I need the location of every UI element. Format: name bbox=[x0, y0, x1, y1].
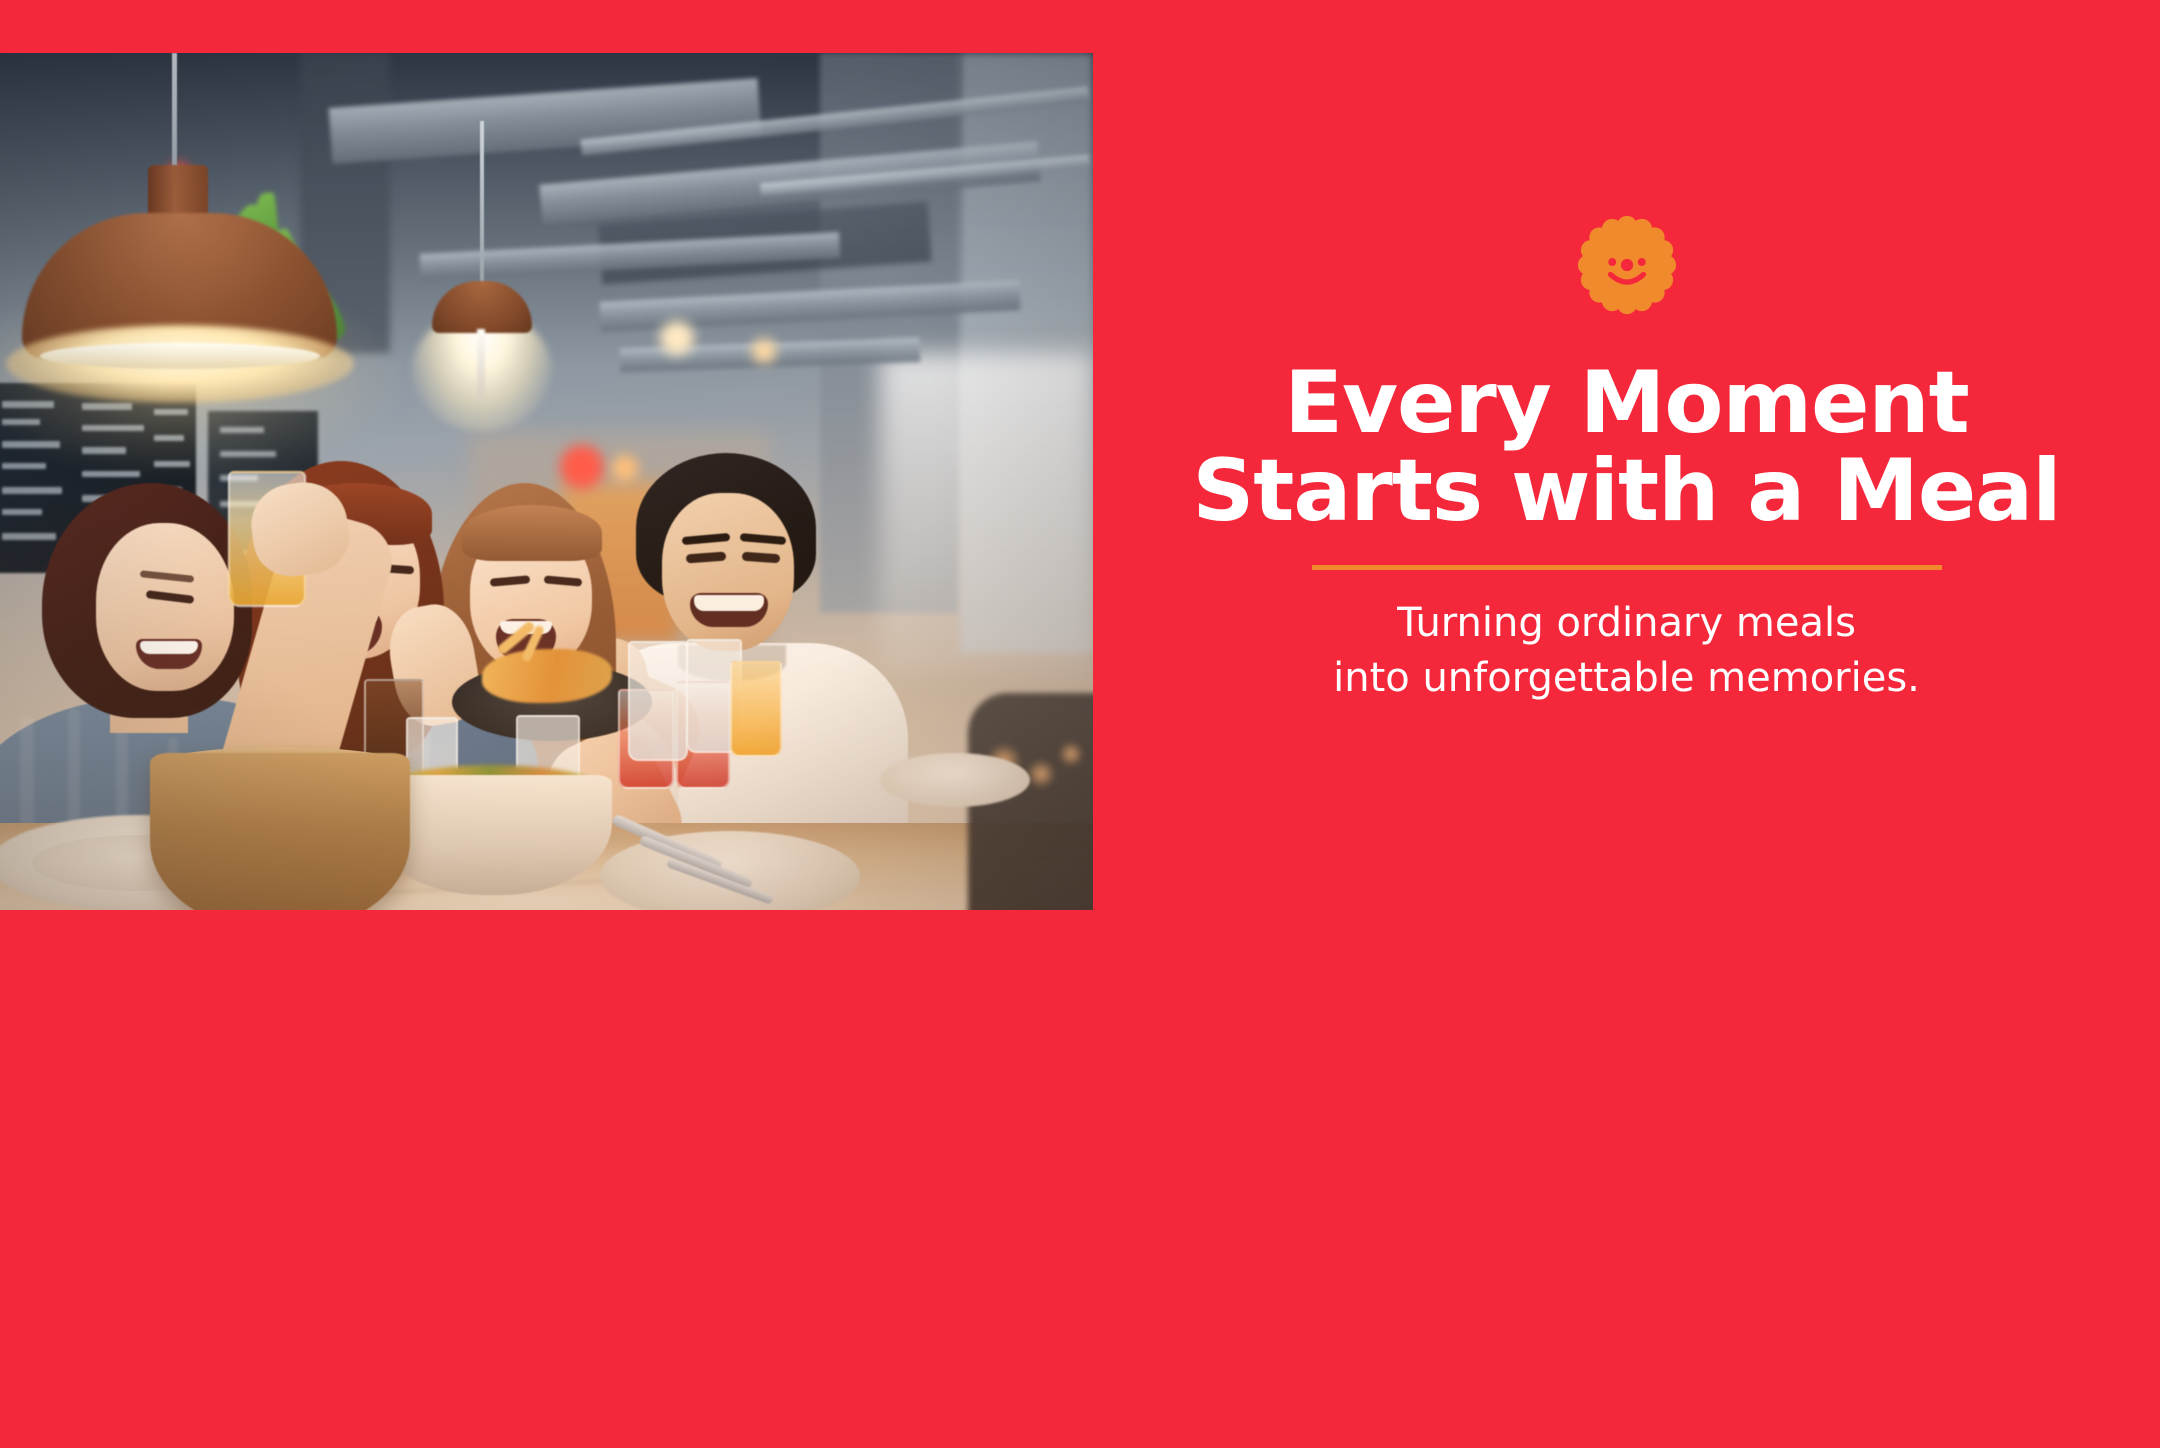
photo-black-plate bbox=[452, 663, 652, 741]
divider bbox=[1312, 565, 1942, 570]
photo-red-drink-glass bbox=[676, 681, 730, 789]
photo-table bbox=[0, 823, 1093, 910]
hero-banner: Every Moment Starts with a Meal Turning … bbox=[0, 0, 2160, 1448]
subtitle-line-2: into unforgettable memories. bbox=[1177, 651, 2077, 705]
photo-pasta bbox=[482, 649, 612, 703]
photo-ceiling-background bbox=[0, 53, 1093, 483]
photo-ceiling-beam bbox=[598, 202, 931, 285]
photo-bokeh-light bbox=[1026, 759, 1056, 789]
photo-pendant-lamp-shade bbox=[432, 281, 532, 333]
headline-line-2: Starts with a Meal bbox=[1127, 448, 2127, 536]
photo-pendant-lamp-bulb bbox=[477, 329, 485, 399]
photo-beer-glass bbox=[228, 471, 306, 607]
photo-bar-warm-light bbox=[560, 483, 680, 643]
photo-pendant-lamp-rim bbox=[40, 343, 320, 369]
photo-chalkboard-menu-secondary bbox=[208, 411, 318, 551]
photo-bokeh-light bbox=[1058, 741, 1084, 767]
badge-nose bbox=[1620, 259, 1632, 271]
badge-eye-left bbox=[1608, 258, 1616, 266]
photo-bokeh-light bbox=[660, 321, 694, 355]
photo-pasta-strand bbox=[496, 620, 536, 656]
photo-red-drink-glass bbox=[618, 689, 674, 789]
photo-ceiling-duct bbox=[620, 338, 921, 372]
photo-pendant-lamp-glow bbox=[412, 311, 552, 431]
photo-bokeh-light bbox=[752, 339, 776, 363]
photo-pillar-far-right bbox=[960, 53, 1093, 653]
photo-ceiling-duct bbox=[600, 280, 1021, 332]
photo-front-plate bbox=[600, 831, 860, 910]
photo-wooden-salad-bowl bbox=[150, 753, 410, 910]
photo-bar-counter bbox=[470, 433, 770, 653]
photo-ceiling-duct bbox=[329, 78, 762, 164]
headline-line-1: Every Moment bbox=[1127, 360, 2127, 448]
photo-pasta-strand bbox=[521, 624, 545, 662]
photo-plant bbox=[186, 193, 366, 393]
badge-eye-right bbox=[1637, 258, 1645, 266]
photo-pendant-lamp-cord bbox=[172, 53, 177, 173]
photo-spoon bbox=[666, 858, 774, 905]
photo-pendant-lamp-shade bbox=[22, 213, 337, 358]
photo-white-salad-bowl bbox=[372, 775, 612, 895]
smiley-scalloped-badge-icon bbox=[1568, 206, 1686, 324]
subtitle: Turning ordinary meals into unforgettabl… bbox=[1177, 596, 2077, 705]
photo-knife bbox=[611, 813, 723, 871]
photo-water-glass-front bbox=[516, 715, 580, 843]
photo-lower-background bbox=[0, 453, 1093, 910]
photo-bokeh-light bbox=[612, 455, 638, 481]
photo-vignette bbox=[0, 53, 1093, 910]
photo-orange-juice-glass bbox=[730, 661, 782, 757]
photo-ceiling-pipe bbox=[581, 86, 1090, 155]
hero-content: Every Moment Starts with a Meal Turning … bbox=[1093, 0, 2160, 910]
photo-cola-glass bbox=[364, 679, 424, 791]
photo-pillar-right bbox=[820, 53, 960, 613]
subtitle-line-1: Turning ordinary meals bbox=[1177, 596, 2077, 650]
photo-fork bbox=[638, 835, 753, 889]
photo-left-plate-inner bbox=[32, 835, 246, 891]
photo-window-light bbox=[880, 353, 1093, 673]
photo-chalkboard-menu bbox=[0, 383, 196, 573]
photo-ceiling-duct bbox=[539, 141, 1041, 224]
photo-bokeh-light bbox=[168, 163, 190, 185]
photo-water-glass bbox=[686, 639, 742, 753]
photo-left-plate bbox=[0, 815, 290, 910]
photo-wooden-bowl-food bbox=[176, 749, 384, 791]
photo-warm-grade bbox=[0, 53, 1093, 910]
photo-bokeh-light bbox=[560, 445, 604, 489]
photo-pendant-lamp-halo bbox=[0, 283, 400, 473]
photo-foreground-dark-object bbox=[968, 693, 1093, 910]
photo-pendant-lamp-glow bbox=[6, 325, 354, 403]
photo-pillar-middle bbox=[300, 53, 390, 353]
photo-bokeh-light bbox=[986, 743, 1022, 779]
photo-ceiling-pipe bbox=[760, 155, 1090, 196]
hero-photo bbox=[0, 53, 1093, 910]
photo-pendant-lamp-cord bbox=[480, 121, 484, 291]
photo-table-highlight bbox=[180, 843, 900, 910]
photo-wooden-bowl-rim bbox=[150, 747, 410, 787]
photo-pendant-lamp-neck bbox=[148, 165, 208, 223]
page-title: Every Moment Starts with a Meal bbox=[1127, 360, 2127, 535]
photo-water-glass bbox=[628, 641, 688, 761]
photo-water-glass bbox=[406, 717, 458, 807]
photo-salad-food bbox=[382, 765, 602, 813]
photo-ceiling-duct bbox=[420, 232, 841, 280]
photo-small-plate bbox=[880, 753, 1030, 807]
